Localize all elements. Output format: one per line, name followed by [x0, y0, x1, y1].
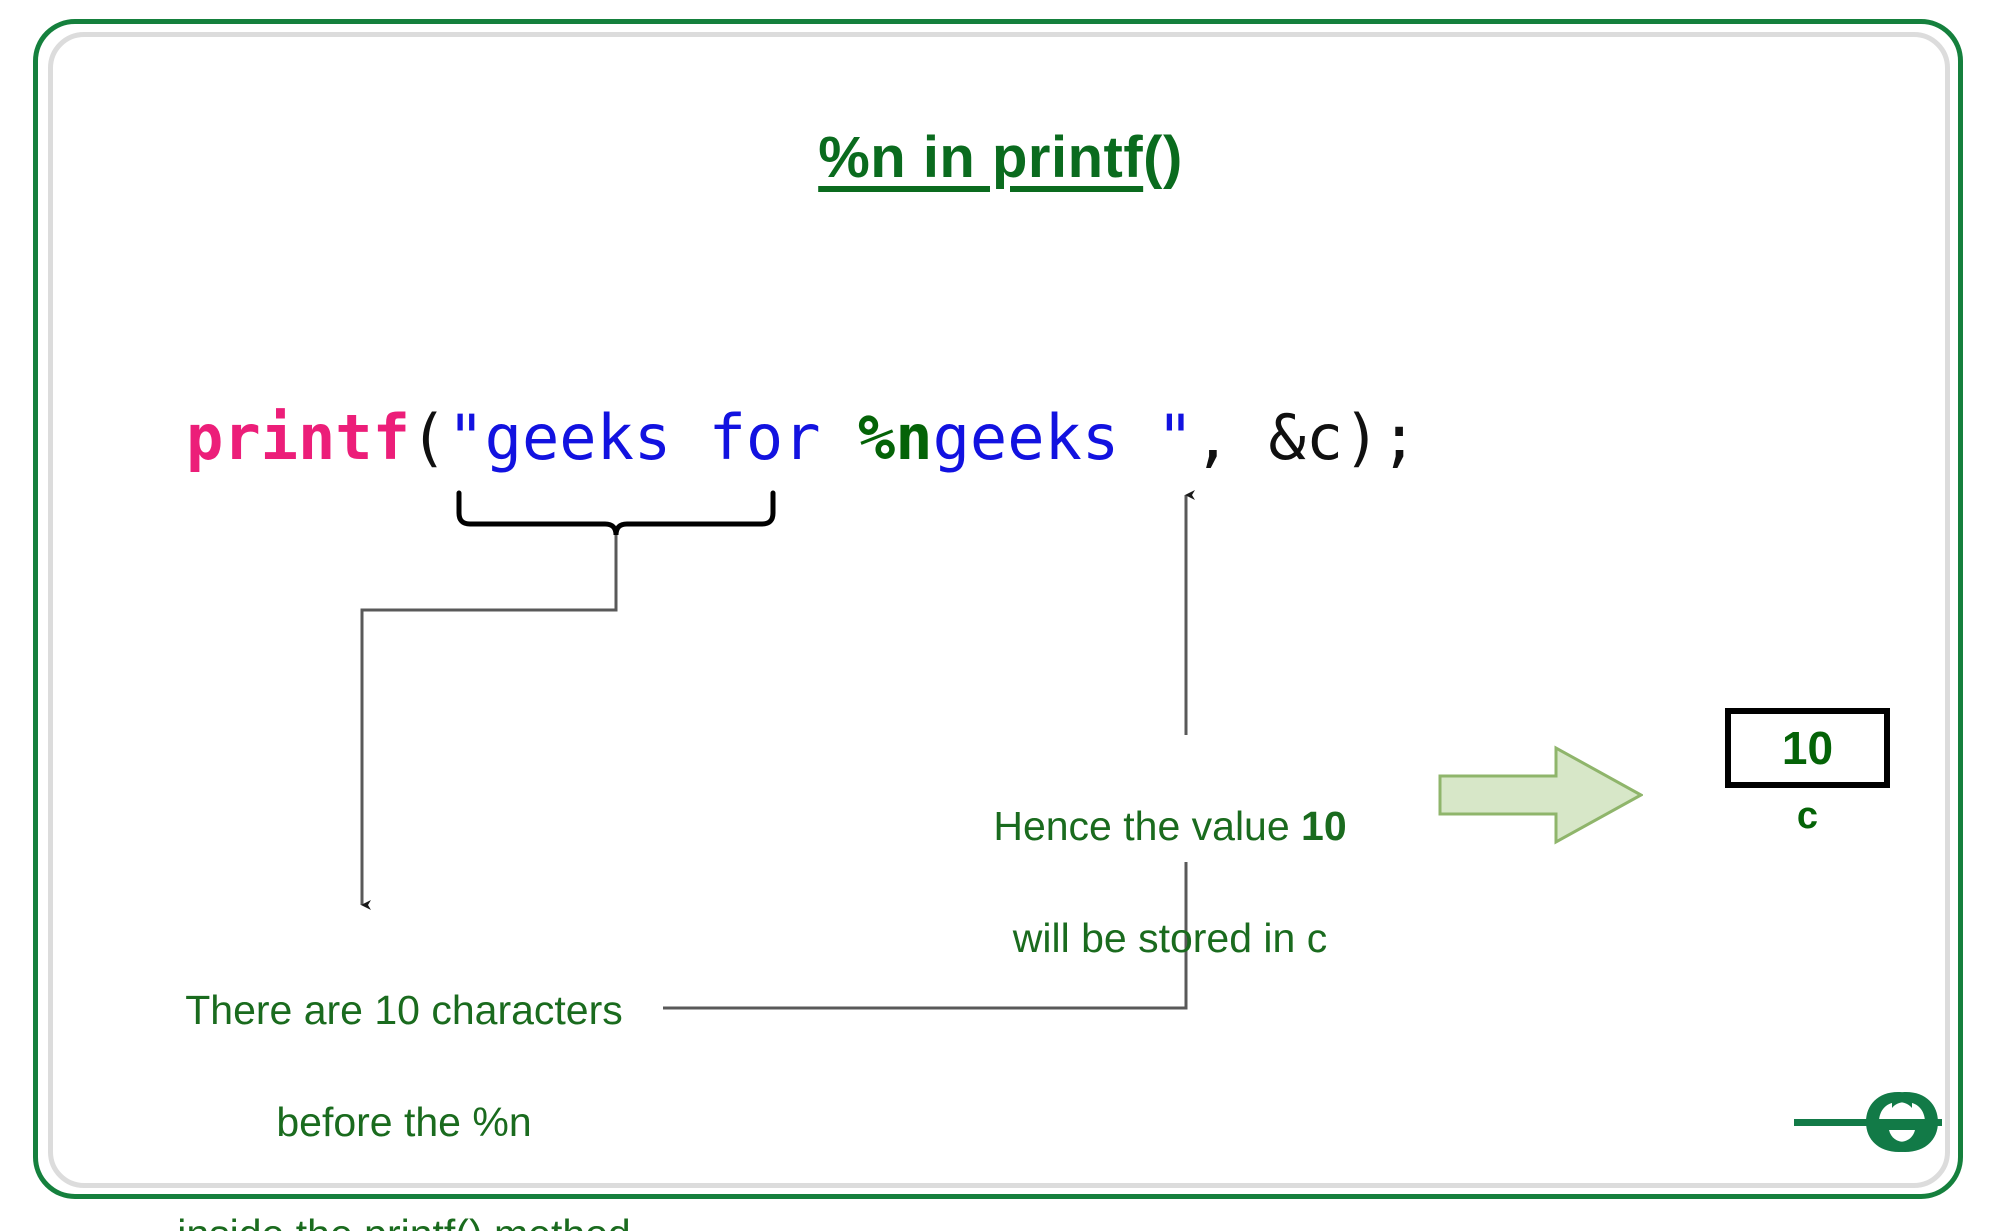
page-title-underlined: %n in printf [818, 125, 1143, 190]
code-token-printf: printf [186, 401, 410, 474]
variable-value-box: 10 [1725, 708, 1890, 788]
code-token-args-tail: , &c); [1194, 401, 1418, 474]
page-title: %n in printf() [0, 124, 2001, 191]
code-token-string-tail: geeks " [933, 401, 1194, 474]
right-annotation-line-1: Hence the value 10 [935, 798, 1405, 854]
page-title-tail: () [1143, 125, 1183, 190]
right-annotation-prefix: Hence the value [993, 803, 1301, 849]
code-token-string-head: "geeks for [447, 401, 858, 474]
right-annotation-line-2: will be stored in c [935, 910, 1405, 966]
variable-value: 10 [1782, 721, 1833, 775]
left-annotation-line-2: before the %n [74, 1094, 734, 1150]
code-token-open-paren: ( [410, 401, 447, 474]
right-annotation-value: 10 [1301, 803, 1347, 849]
brace-under-string [459, 493, 773, 535]
left-annotation: There are 10 characters before the %n in… [74, 926, 734, 1231]
right-annotation: Hence the value 10 will be stored in c [935, 742, 1405, 1022]
code-token-percent-n: %n [858, 401, 933, 474]
flow-arrow-right-icon [1438, 740, 1643, 850]
variable-name-label: c [1725, 795, 1890, 838]
geeksforgeeks-logo-icon [1782, 1070, 1952, 1170]
wire-brace-to-left-note [362, 535, 616, 905]
left-annotation-line-1: There are 10 characters [74, 982, 734, 1038]
code-statement: printf("geeks for %ngeeks ", &c); [186, 403, 1418, 473]
left-annotation-line-3: inside the printf() method [74, 1206, 734, 1231]
slide-canvas: %n in printf() printf("geeks for %ngeeks… [0, 0, 2001, 1231]
